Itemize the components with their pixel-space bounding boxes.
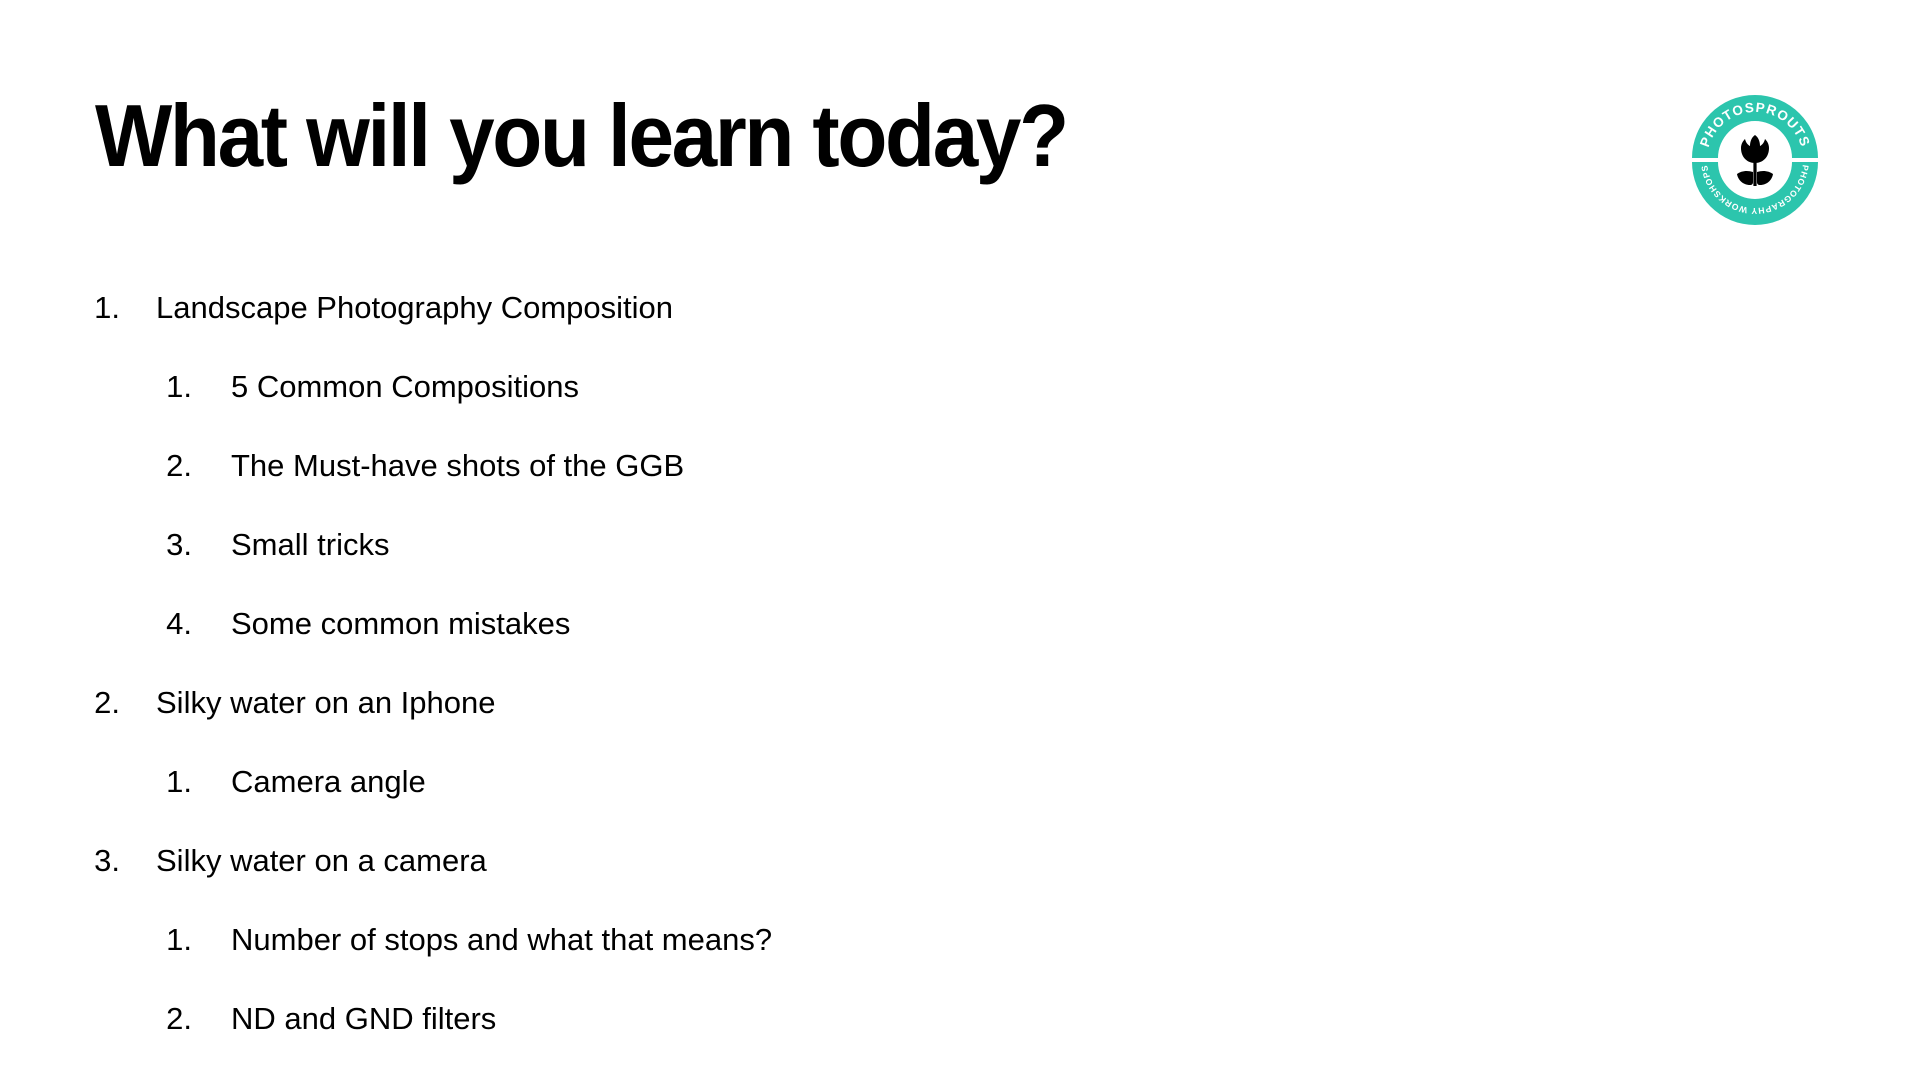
outline-row-marker: 1. — [0, 347, 192, 426]
outline-row: 3.Small tricks — [0, 505, 1600, 584]
outline-row-label: Silky water on a camera — [120, 821, 487, 900]
tulip-icon — [1737, 135, 1773, 186]
outline-row-marker: 1. — [0, 900, 192, 979]
outline-row-label: Number of stops and what that means? — [192, 900, 772, 979]
photosprouts-logo: PHOTOSPROUTS PHOTOGRAPHY WORKSHOPS — [1689, 94, 1821, 226]
outline-row-marker: 3. — [0, 505, 192, 584]
outline-row: 3.Silky water on a camera — [0, 821, 1600, 900]
outline-row-marker: 1. — [0, 742, 192, 821]
page-title: What will you learn today? — [95, 88, 1067, 184]
outline-row-marker: 2. — [0, 979, 192, 1058]
outline-row: 2.The Must-have shots of the GGB — [0, 426, 1600, 505]
outline-row: 1.5 Common Compositions — [0, 347, 1600, 426]
outline-row: 2.ND and GND filters — [0, 979, 1600, 1058]
outline-row-label: Camera angle — [192, 742, 426, 821]
outline-row-label: Small tricks — [192, 505, 389, 584]
outline-row-marker: 2. — [0, 663, 120, 742]
outline-row-label: Some common mistakes — [192, 584, 570, 663]
outline-row-label: Silky water on an Iphone — [120, 663, 496, 742]
outline-row: 4.Some common mistakes — [0, 584, 1600, 663]
outline-row-marker: 4. — [0, 584, 192, 663]
outline-row-marker: 3. — [0, 821, 120, 900]
outline-row: 2.Silky water on an Iphone — [0, 663, 1600, 742]
outline-row-label: 5 Common Compositions — [192, 347, 579, 426]
outline-row-label: Landscape Photography Composition — [120, 268, 673, 347]
outline-row-label: ND and GND filters — [192, 979, 496, 1058]
outline-row-marker: 2. — [0, 426, 192, 505]
outline-list: 1.Landscape Photography Composition1.5 C… — [0, 268, 1600, 1058]
outline-row: 1.Camera angle — [0, 742, 1600, 821]
outline-row-marker: 1. — [0, 268, 120, 347]
outline-row: 1.Number of stops and what that means? — [0, 900, 1600, 979]
slide-canvas: What will you learn today? PHOTOSPROUTS … — [0, 0, 1920, 1080]
outline-row-label: The Must-have shots of the GGB — [192, 426, 684, 505]
outline-row: 1.Landscape Photography Composition — [0, 268, 1600, 347]
